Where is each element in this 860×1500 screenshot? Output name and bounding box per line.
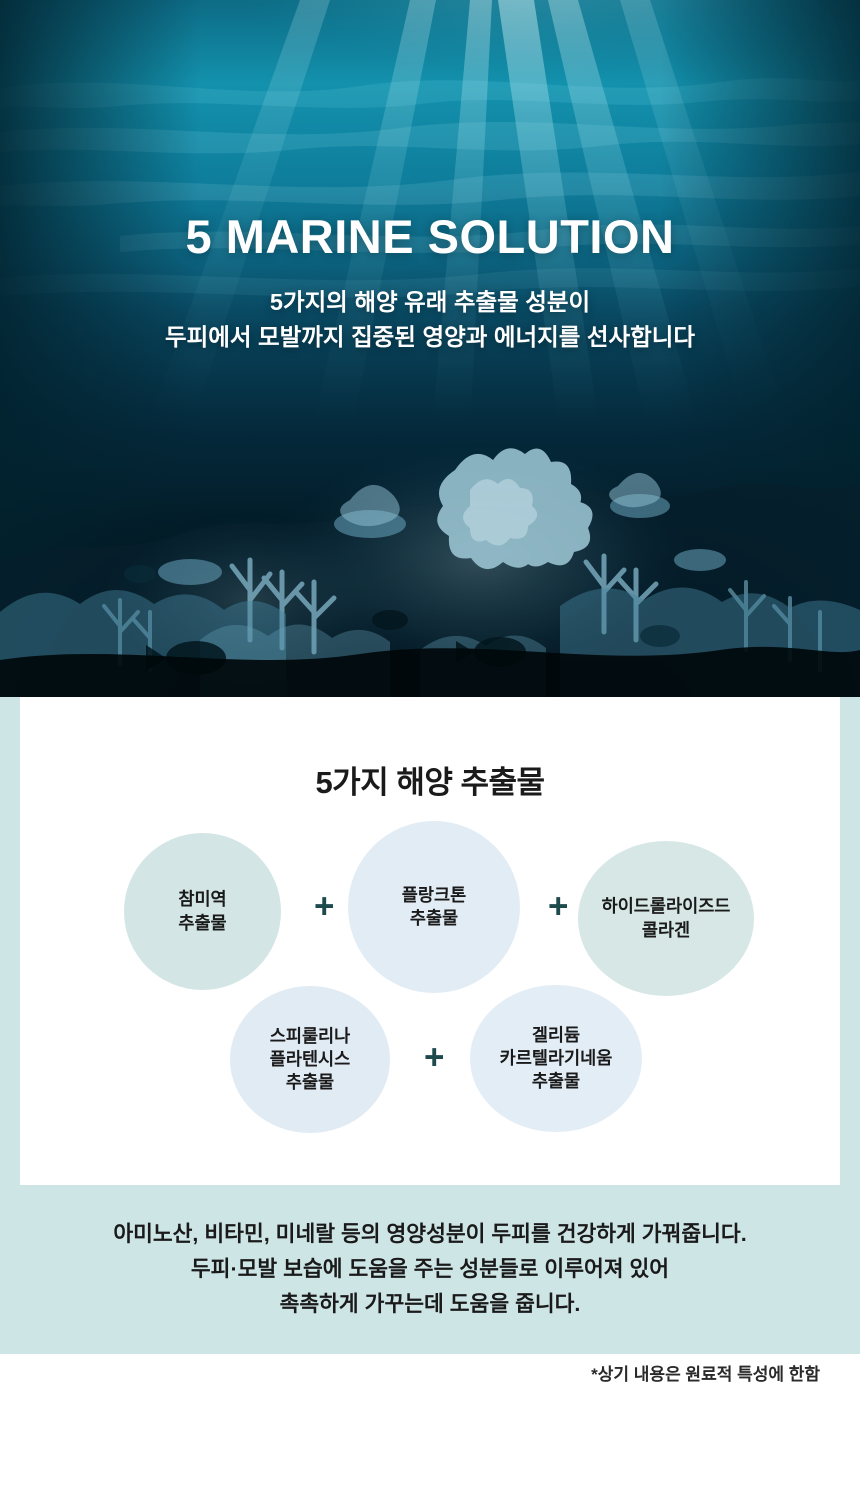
benefit-band: 아미노산, 비타민, 미네랄 등의 영양성분이 두피를 건강하게 가꿔줍니다. … (0, 1185, 860, 1354)
ingredient-circle-plankton: 플랑크톤 추출물 (348, 821, 520, 993)
product-detail-page: 5 MARINE SOLUTION 5가지의 해양 유래 추출물 성분이 두피에… (0, 0, 860, 1500)
benefit-line-3: 촉촉하게 가꾸는데 도움을 줍니다. (113, 1287, 746, 1322)
underwater-scene-image (0, 0, 860, 697)
ingredient-label: 스피룰리나 플라텐시스 추출물 (270, 1025, 351, 1095)
ingredient-line-2: 추출물 (178, 912, 226, 935)
ingredient-line-1: 참미역 (178, 888, 226, 911)
footnote-disclaimer: *상기 내용은 원료적 특성에 한함 (591, 1360, 820, 1385)
plus-icon-3: + (424, 1040, 444, 1075)
hero-banner: 5 MARINE SOLUTION 5가지의 해양 유래 추출물 성분이 두피에… (0, 0, 860, 697)
ingredient-circle-chammiyeok: 참미역 추출물 (124, 833, 281, 990)
ingredient-line-2: 콜라겐 (602, 919, 731, 942)
ingredient-line-1: 플랑크톤 (402, 884, 466, 907)
ingredients-panel: 5가지 해양 추출물 참미역 추출물 + 플랑크톤 추출물 + 하이드롤라이즈드 (20, 697, 840, 1185)
ingredient-line-3: 추출물 (270, 1071, 351, 1094)
ingredient-line-2: 추출물 (402, 907, 466, 930)
ingredient-label: 하이드롤라이즈드 콜라겐 (602, 895, 731, 942)
plus-icon-1: + (314, 889, 334, 924)
ingredient-label: 참미역 추출물 (178, 888, 226, 935)
ingredient-line-1: 스피룰리나 (270, 1025, 351, 1048)
ingredient-line-2: 플라텐시스 (270, 1048, 351, 1071)
ingredient-label: 플랑크톤 추출물 (402, 884, 466, 931)
ingredient-circle-spirulina: 스피룰리나 플라텐시스 추출물 (230, 986, 390, 1133)
benefit-line-1: 아미노산, 비타민, 미네랄 등의 영양성분이 두피를 건강하게 가꿔줍니다. (113, 1217, 746, 1252)
ingredient-label: 겔리듐 카르텔라기네움 추출물 (500, 1024, 613, 1094)
ingredient-circle-gelidium: 겔리듐 카르텔라기네움 추출물 (470, 985, 642, 1132)
ingredient-line-3: 추출물 (500, 1070, 613, 1093)
benefit-text: 아미노산, 비타민, 미네랄 등의 영양성분이 두피를 건강하게 가꿔줍니다. … (113, 1217, 746, 1321)
plus-icon-2: + (548, 889, 568, 924)
ingredient-line-1: 하이드롤라이즈드 (602, 895, 731, 918)
ingredient-line-2: 카르텔라기네움 (500, 1047, 613, 1070)
ingredient-line-1: 겔리듐 (500, 1024, 613, 1047)
benefit-line-2: 두피·모발 보습에 도움을 주는 성분들로 이루어져 있어 (113, 1252, 746, 1287)
ingredient-circle-group: 참미역 추출물 + 플랑크톤 추출물 + 하이드롤라이즈드 콜라겐 (20, 697, 840, 1185)
ingredient-circle-collagen: 하이드롤라이즈드 콜라겐 (578, 841, 754, 996)
